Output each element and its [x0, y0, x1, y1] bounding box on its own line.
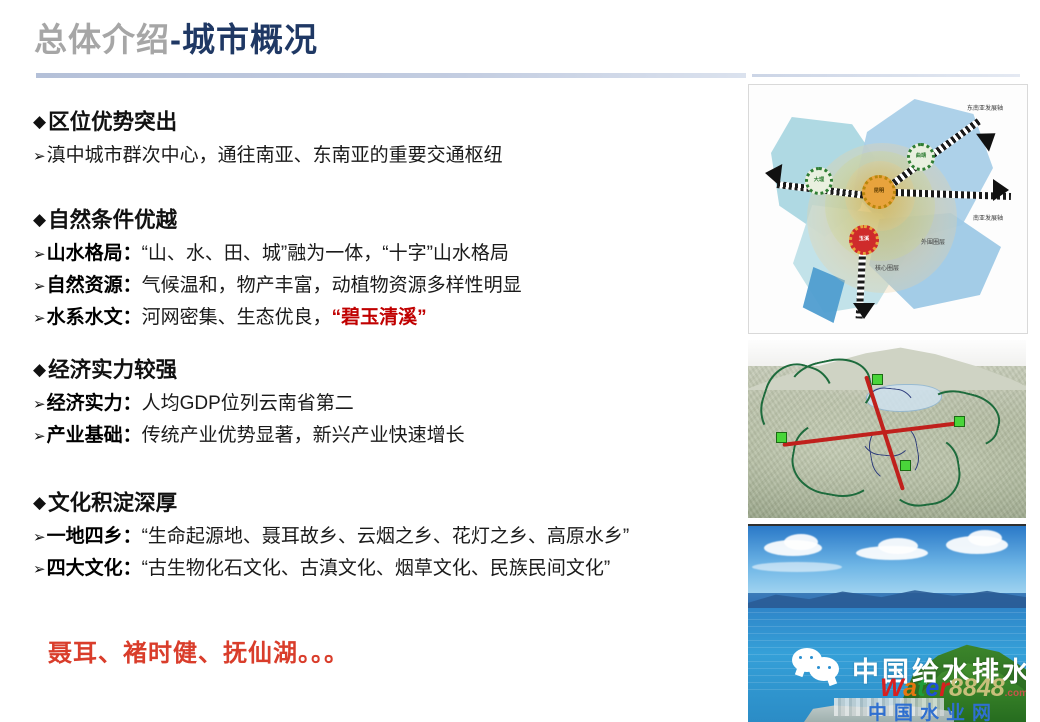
arrow-head-icon: [764, 162, 783, 186]
list-item-label: 山水格局：: [47, 238, 142, 269]
list-item-label: 产业基础：: [47, 420, 142, 451]
list-item-text: 传统产业优势显著，新兴产业快速增长: [142, 420, 465, 451]
list-item-text: “生命起源地、聂耳故乡、云烟之乡、花灯之乡、高原水乡”: [142, 521, 630, 552]
page-title: 总体介绍-城市概况: [34, 20, 318, 60]
slide-header: 总体介绍-城市概况: [0, 0, 1040, 80]
diamond-bullet-icon: ◆: [33, 107, 46, 137]
axis-endpoint-marker: [954, 416, 965, 427]
slide: 总体介绍-城市概况 ◆ 区位优势突出 ➢ 滇中城市群次中心，通往南亚、东南亚的重…: [0, 0, 1040, 720]
site-suffix: .com: [1005, 688, 1026, 699]
fuxian-lake-photo: 中国给水排水 Water8848.com 中国水业网: [748, 524, 1026, 722]
arrow-bullet-icon: ➢: [33, 239, 46, 270]
list-item-label: 经济实力：: [47, 388, 142, 419]
list-item-label: 一地四乡：: [47, 521, 142, 552]
city-terrain-cross-axis-map: [748, 340, 1026, 518]
list-item-text: “古生物化石文化、古滇文化、烟草文化、民族民间文化”: [142, 553, 611, 584]
section-economy: ◆ 经济实力较强 ➢ 经济实力： 人均GDP位列云南省第二 ➢ 产业基础： 传统…: [33, 355, 465, 452]
cloud: [752, 562, 842, 572]
section-heading: ◆ 文化积淀深厚: [33, 488, 629, 518]
list-item: ➢ 滇中城市群次中心，通往南亚、东南亚的重要交通枢纽: [33, 140, 503, 172]
tagline-wrap: 聂耳、褚时健、抚仙湖。。。: [48, 633, 349, 668]
map-node-south: 玉溪: [849, 225, 879, 255]
cloud: [968, 530, 1002, 546]
diamond-bullet-icon: ◆: [33, 205, 46, 235]
map-label-south-axis: 南亚发展轴: [973, 213, 1003, 222]
watermark-site-cn: 中国水业网: [868, 698, 998, 722]
section-heading: ◆ 经济实力较强: [33, 355, 465, 385]
section-location-advantage: ◆ 区位优势突出 ➢ 滇中城市群次中心，通往南亚、东南亚的重要交通枢纽: [33, 107, 503, 172]
header-divider-right: [752, 74, 1020, 77]
list-item-label: 四大文化：: [47, 553, 142, 584]
page-title-main: 总体介绍: [34, 21, 170, 58]
map-node-east: 曲靖: [907, 143, 935, 171]
list-item-highlight: “碧玉清溪”: [332, 302, 427, 333]
list-item-text: 气候温和，物产丰富，动植物资源多样性明显: [142, 270, 522, 301]
section-heading-text: 自然条件优越: [48, 205, 177, 235]
list-item-text: “山、水、田、城”融为一体，“十字”山水格局: [142, 238, 509, 269]
tagline: 聂耳、褚时健、抚仙湖。。。: [48, 633, 349, 668]
arrow-bullet-icon: ➢: [33, 554, 46, 585]
list-item-text: 河网密集、生态优良，: [142, 302, 332, 333]
list-item: ➢ 一地四乡： “生命起源地、聂耳故乡、云烟之乡、花灯之乡、高原水乡”: [33, 521, 629, 553]
arrow-bullet-icon: ➢: [33, 271, 46, 302]
list-item-text: 滇中城市群次中心，通往南亚、东南亚的重要交通枢纽: [47, 140, 503, 171]
arrow-bullet-icon: ➢: [33, 303, 46, 334]
header-divider: [36, 73, 746, 78]
page-title-sub: -城市概况: [170, 21, 318, 58]
section-heading: ◆ 区位优势突出: [33, 107, 503, 137]
section-heading-text: 区位优势突出: [48, 107, 177, 137]
section-heading: ◆ 自然条件优越: [33, 205, 522, 235]
list-item: ➢ 四大文化： “古生物化石文化、古滇文化、烟草文化、民族民间文化”: [33, 553, 629, 585]
arrow-bullet-icon: ➢: [33, 522, 46, 553]
section-culture: ◆ 文化积淀深厚 ➢ 一地四乡： “生命起源地、聂耳故乡、云烟之乡、花灯之乡、高…: [33, 488, 629, 585]
axis-endpoint-marker: [900, 460, 911, 471]
diamond-bullet-icon: ◆: [33, 488, 46, 518]
list-item: ➢ 水系水文： 河网密集、生态优良， “碧玉清溪”: [33, 302, 522, 334]
cloud: [878, 538, 918, 554]
section-heading-text: 文化积淀深厚: [48, 488, 177, 518]
axis-endpoint-marker: [776, 432, 787, 443]
map-label-outer-ring: 外围圈层: [921, 237, 945, 246]
list-item: ➢ 产业基础： 传统产业优势显著，新兴产业快速增长: [33, 420, 465, 452]
arrow-head-icon: [853, 303, 875, 319]
list-item-label: 自然资源：: [47, 270, 142, 301]
list-item: ➢ 山水格局： “山、水、田、城”融为一体，“十字”山水格局: [33, 238, 522, 270]
map-node-center: 昆明: [862, 175, 896, 209]
section-natural-conditions: ◆ 自然条件优越 ➢ 山水格局： “山、水、田、城”融为一体，“十字”山水格局 …: [33, 205, 522, 334]
list-item: ➢ 经济实力： 人均GDP位列云南省第二: [33, 388, 465, 420]
wechat-icon: [792, 648, 846, 682]
axis-endpoint-marker: [872, 374, 883, 385]
section-heading-text: 经济实力较强: [48, 355, 177, 385]
figure-column: 大理 曲靖 昆明 玉溪 东南亚发展轴 南亚发展轴 外围圈层 核心圈层: [748, 84, 1026, 722]
map-label-southeast-axis: 东南亚发展轴: [967, 103, 1003, 112]
diamond-bullet-icon: ◆: [33, 355, 46, 385]
list-item: ➢ 自然资源： 气候温和，物产丰富，动植物资源多样性明显: [33, 270, 522, 302]
arrow-bullet-icon: ➢: [33, 389, 46, 420]
regional-position-diagram: 大理 曲靖 昆明 玉溪 东南亚发展轴 南亚发展轴 外围圈层 核心圈层: [748, 84, 1028, 334]
list-item-label: 水系水文：: [47, 302, 142, 333]
cloud: [784, 534, 818, 550]
arrow-bullet-icon: ➢: [33, 141, 46, 172]
content-column: ◆ 区位优势突出 ➢ 滇中城市群次中心，通往南亚、东南亚的重要交通枢纽 ◆ 自然…: [0, 88, 745, 720]
map-node-west: 大理: [805, 167, 833, 195]
map-label-core-ring: 核心圈层: [875, 263, 899, 272]
arrow-bullet-icon: ➢: [33, 421, 46, 452]
list-item-text: 人均GDP位列云南省第二: [142, 388, 354, 419]
arrow-head-icon: [993, 179, 1009, 201]
